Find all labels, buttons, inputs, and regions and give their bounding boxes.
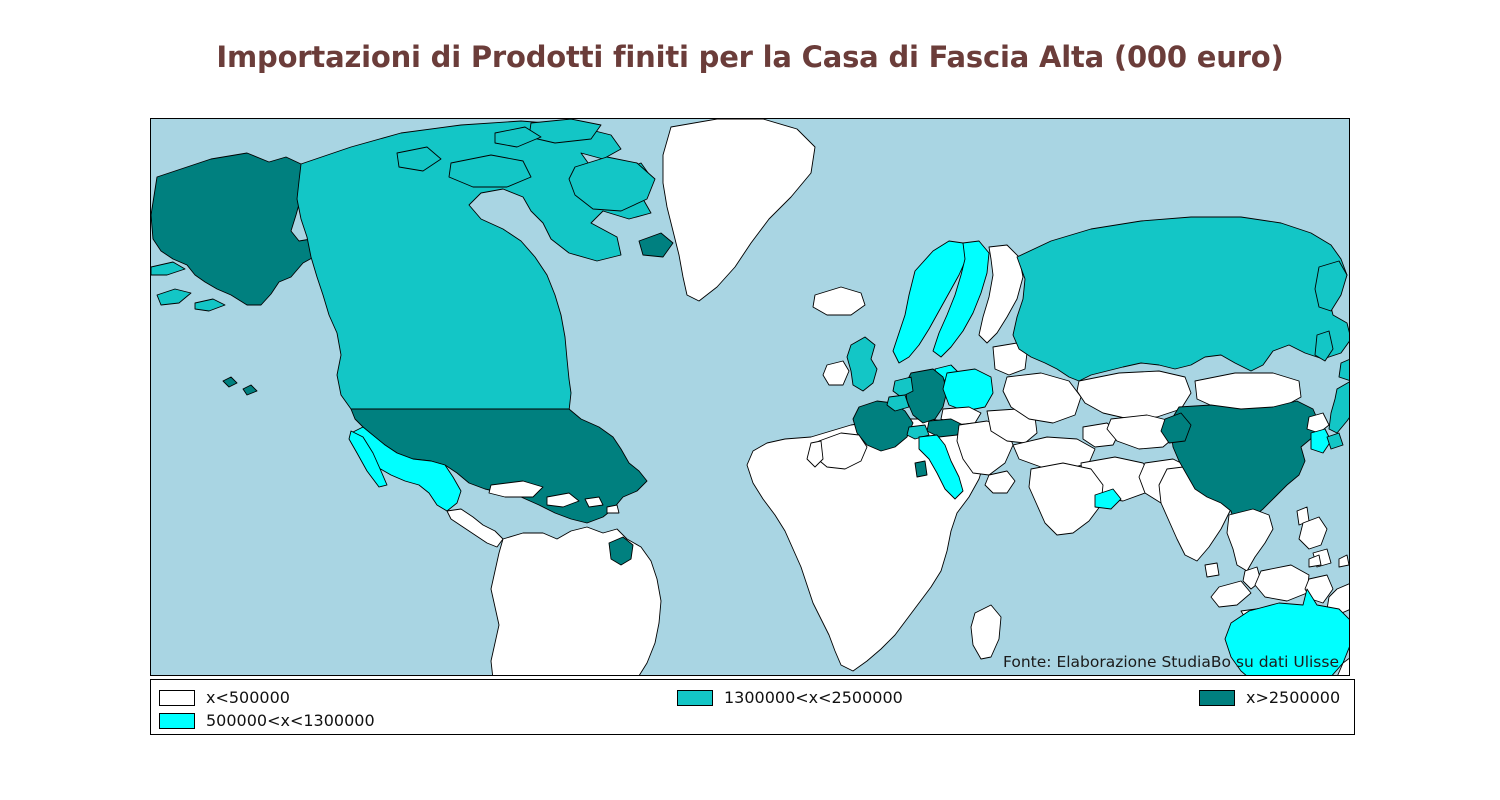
legend: x<500000 500000<x<1300000 1300000<x<2500… [150,679,1355,735]
page-title: Importazioni di Prodotti finiti per la C… [0,40,1500,74]
legend-swatch-none [159,690,195,706]
legend-label-0: x<500000 [206,688,290,707]
region-newfoundland [639,233,673,257]
region-sumatra [1211,581,1251,607]
region-japan[interactable] [1339,357,1350,381]
source-attribution: Fonte: Elaborazione StudiaBo su dati Uli… [1003,653,1339,671]
legend-item-1[interactable]: 500000<x<1300000 [159,711,375,730]
land-layer [151,119,1350,676]
region-ireland [823,361,849,385]
region-central-america [447,509,503,547]
legend-item-0[interactable]: x<500000 [159,688,290,707]
legend-swatch-low [159,713,195,729]
map-canvas[interactable]: Fonte: Elaborazione StudiaBo su dati Uli… [150,118,1350,676]
world-map-svg[interactable] [151,119,1350,676]
region-ellesmere [529,119,601,143]
region-japan-kyushu [1327,433,1343,449]
legend-label-3: x>2500000 [1246,688,1340,707]
legend-label-2: 1300000<x<2500000 [724,688,903,707]
region-pacific-islands [1339,555,1349,567]
legend-label-1: 500000<x<1300000 [206,711,375,730]
region-sri-lanka [1205,563,1219,577]
region-kamchatka [1315,261,1347,311]
region-papua-islands [1309,555,1321,567]
region-borneo [1255,565,1309,601]
legend-swatch-mid [677,690,713,706]
region-japan-honshu[interactable] [1329,381,1350,433]
region-hawaii [223,377,257,395]
region-sardinia-sicily [915,461,927,477]
legend-item-3[interactable]: x>2500000 [1199,688,1340,707]
region-kazakhstan [1077,371,1191,419]
region-arabia [1029,463,1103,535]
region-iceland [813,287,865,315]
region-aleutians-3 [151,262,185,275]
region-south-america [491,527,661,676]
legend-item-2[interactable]: 1300000<x<2500000 [677,688,903,707]
region-united-kingdom[interactable] [847,337,877,391]
region-russia[interactable] [1013,217,1350,381]
region-poland[interactable] [943,369,993,411]
legend-swatch-high [1199,690,1235,706]
region-greenland [663,119,815,301]
region-aleutians [157,289,191,305]
region-aleutians-2 [195,299,225,311]
region-southeast-asia [1227,509,1273,571]
region-madagascar [971,605,1001,659]
choropleth-map-figure: Importazioni di Prodotti finiti per la C… [0,0,1500,800]
